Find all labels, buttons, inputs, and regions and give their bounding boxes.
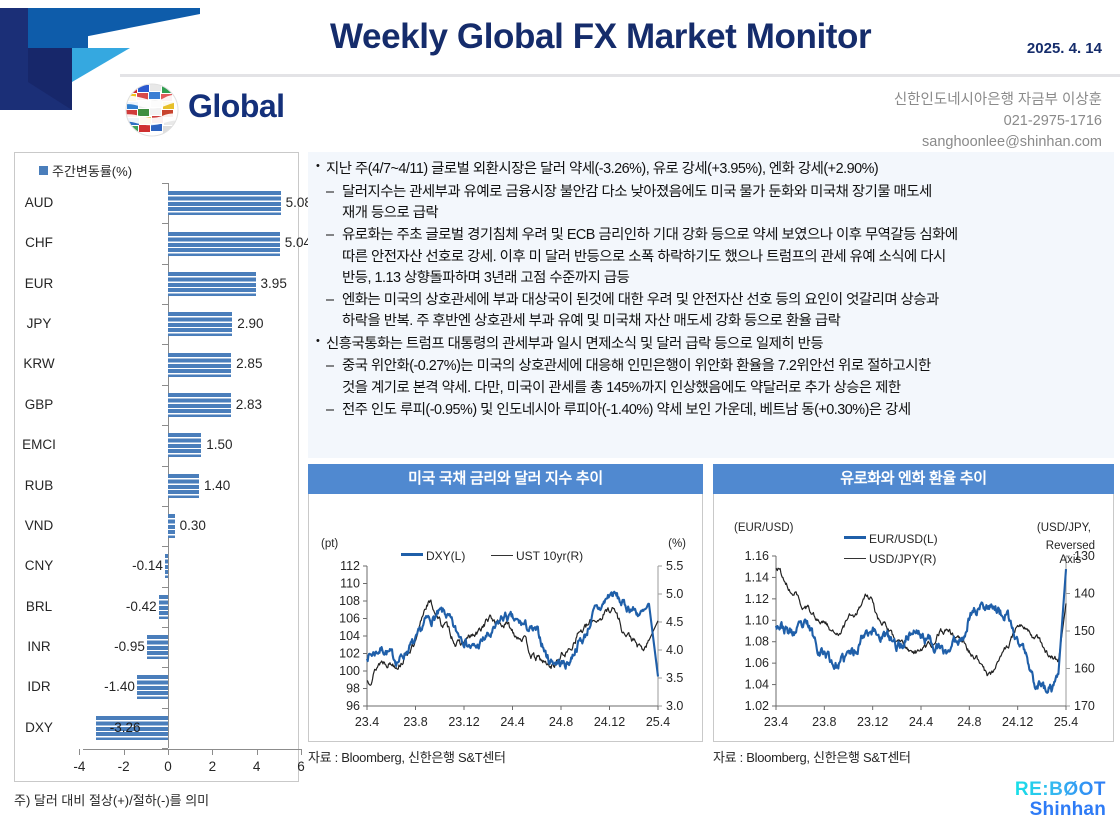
commentary-bullet: 신흥국통화는 트럼프 대통령의 관세부과 일시 면제소식 및 달러 급락 등으로… xyxy=(314,334,1106,356)
y-tick xyxy=(162,264,168,265)
svg-text:24.4: 24.4 xyxy=(909,715,933,729)
svg-text:1.16: 1.16 xyxy=(745,549,769,563)
commentary-line: 유로화는 주초 글로벌 경기침체 우려 및 ECB 금리인하 기대 강화 등으로… xyxy=(340,225,1106,246)
bar-segment xyxy=(137,675,168,699)
legend-dxy: DXY(L) xyxy=(401,549,465,563)
svg-text:4.0: 4.0 xyxy=(666,643,683,657)
legend-line-ust xyxy=(491,555,513,556)
y-tick xyxy=(162,708,168,709)
chart-source: 자료 : Bloomberg, 신한은행 S&T센터 xyxy=(308,747,703,766)
svg-text:140: 140 xyxy=(1074,587,1095,601)
y-tick xyxy=(162,627,168,628)
svg-text:25.4: 25.4 xyxy=(646,715,670,729)
svg-text:1.12: 1.12 xyxy=(745,592,769,606)
bar-segment xyxy=(168,312,232,336)
commentary-line: 반등, 1.13 상향돌파하며 3년래 고점 수준까지 급등 xyxy=(340,268,1106,289)
commentary-line: 재개 등으로 급락 xyxy=(340,203,1106,224)
bar-row: CNY-0.14 xyxy=(15,546,298,586)
svg-text:98: 98 xyxy=(346,682,360,696)
svg-text:4.5: 4.5 xyxy=(666,615,683,629)
bar-category-label: EUR xyxy=(15,264,63,304)
bar-segment xyxy=(168,272,256,296)
bar-value-label: 3.95 xyxy=(261,264,287,304)
y-tick xyxy=(162,587,168,588)
svg-text:5.5: 5.5 xyxy=(666,559,683,573)
svg-text:102: 102 xyxy=(339,647,360,661)
contact-block: 신한인도네시아은행 자금부 이상훈 021-2975-1716 sanghoon… xyxy=(894,90,1102,153)
legend-label-dxy: DXY(L) xyxy=(426,549,465,563)
svg-text:100: 100 xyxy=(339,664,360,678)
legend-label-eurusd: EUR/USD(L) xyxy=(869,532,938,546)
bar-category-label: KRW xyxy=(15,344,63,384)
commentary-line: 엔화는 미국의 상호관세에 부과 대상국이 된것에 대한 우려 및 안전자산 선… xyxy=(340,290,1106,311)
left-axis-unit: (pt) xyxy=(321,538,338,550)
bar-row: CHF5.04 xyxy=(15,223,298,263)
svg-text:24.4: 24.4 xyxy=(500,715,524,729)
bar-segment xyxy=(147,635,168,659)
commentary-panel: 지난 주(4/7~4/11) 글로벌 외환시장은 달러 약세(-3.26%), … xyxy=(308,152,1114,458)
header-divider xyxy=(120,74,1120,77)
bar-segment xyxy=(159,595,168,619)
shinhan-wordmark: Shinhan xyxy=(1015,800,1106,820)
svg-text:150: 150 xyxy=(1074,624,1095,638)
legend-label-ust: UST 10yr(R) xyxy=(516,549,583,563)
bar-category-label: RUB xyxy=(15,466,63,506)
svg-text:24.12: 24.12 xyxy=(1002,715,1033,729)
chart-plot-frame: (pt) (%) DXY(L) UST 10yr(R) 112110108106… xyxy=(308,494,703,742)
bar-value-label: -0.14 xyxy=(123,546,163,586)
bar-row: GBP2.83 xyxy=(15,385,298,425)
bar-category-label: BRL xyxy=(15,587,63,627)
svg-text:170: 170 xyxy=(1074,699,1095,713)
chart-eur-jpy: 유로화와 엔화 환율 추이 (EUR/USD) (USD/JPY, Revers… xyxy=(713,464,1114,760)
legend-line-usdjpy xyxy=(844,558,866,559)
bar-segment xyxy=(168,474,199,498)
svg-text:23.4: 23.4 xyxy=(764,715,788,729)
bar-category-label: CHF xyxy=(15,223,63,263)
chart-ust-dxy: 미국 국채 금리와 달러 지수 추이 (pt) (%) DXY(L) UST 1… xyxy=(308,464,703,760)
commentary-line: 것을 계기로 본격 약세. 다만, 미국이 관세를 총 145%까지 인상했음에… xyxy=(340,378,1106,399)
bar-value-label: 2.83 xyxy=(236,385,262,425)
svg-text:1.08: 1.08 xyxy=(745,635,769,649)
bar-row: BRL-0.42 xyxy=(15,587,298,627)
commentary-subbullet: 엔화는 미국의 상호관세에 부과 대상국이 된것에 대한 우려 및 안전자산 선… xyxy=(314,290,1106,333)
svg-text:5.0: 5.0 xyxy=(666,587,683,601)
bar-value-label: 0.30 xyxy=(180,506,206,546)
svg-text:1.04: 1.04 xyxy=(745,678,769,692)
commentary-line: 중국 위안화(-0.27%)는 미국의 상호관세에 대응해 인민은행이 위안화 … xyxy=(340,356,1106,377)
svg-text:23.8: 23.8 xyxy=(403,715,427,729)
legend-label-usdjpy: USD/JPY(R) xyxy=(869,552,936,566)
bar-segment xyxy=(165,554,168,578)
bar-x-axis: -4-20246 xyxy=(15,749,298,783)
bar-row: JPY2.90 xyxy=(15,304,298,344)
commentary-subbullet: 유로화는 주초 글로벌 경기침체 우려 및 ECB 금리인하 기대 강화 등으로… xyxy=(314,225,1106,289)
bar-value-label: 2.85 xyxy=(236,344,262,384)
contact-author: 신한인도네시아은행 자금부 이상훈 xyxy=(894,90,1102,111)
x-tick xyxy=(301,749,302,755)
bar-segment xyxy=(168,353,231,377)
x-tick-label: 0 xyxy=(164,759,172,774)
svg-text:23.12: 23.12 xyxy=(448,715,479,729)
reboot-wordmark: RE:BØOT xyxy=(1015,780,1106,800)
bar-row: IDR-1.40 xyxy=(15,667,298,707)
page-header: Weekly Global FX Market Monitor 2025. 4.… xyxy=(0,0,1120,150)
bar-segment xyxy=(168,433,201,457)
svg-text:96: 96 xyxy=(346,699,360,713)
svg-text:24.12: 24.12 xyxy=(594,715,625,729)
bar-category-label: GBP xyxy=(15,385,63,425)
bar-value-label: 1.40 xyxy=(204,466,230,506)
y-tick xyxy=(162,223,168,224)
svg-text:106: 106 xyxy=(339,612,360,626)
x-tick xyxy=(257,749,258,755)
svg-text:104: 104 xyxy=(339,629,360,643)
y-tick xyxy=(162,425,168,426)
commentary-subbullet: 중국 위안화(-0.27%)는 미국의 상호관세에 대응해 인민은행이 위안화 … xyxy=(314,356,1106,399)
svg-text:160: 160 xyxy=(1074,662,1095,676)
globe-flags-icon xyxy=(124,82,180,138)
svg-text:23.8: 23.8 xyxy=(812,715,836,729)
legend-swatch xyxy=(39,166,48,175)
bar-value-label: 2.90 xyxy=(237,304,263,344)
svg-text:23.12: 23.12 xyxy=(857,715,888,729)
bar-row: DXY-3.26 xyxy=(15,708,298,748)
bar-category-label: AUD xyxy=(15,183,63,223)
svg-text:108: 108 xyxy=(339,594,360,608)
bar-category-label: JPY xyxy=(15,304,63,344)
bar-category-label: VND xyxy=(15,506,63,546)
commentary-line: 따른 안전자산 선호로 강세. 이후 미 달러 반등으로 소폭 하락하기도 했으… xyxy=(340,247,1106,268)
legend-line-eurusd xyxy=(844,536,866,539)
y-tick xyxy=(162,183,168,184)
svg-text:3.0: 3.0 xyxy=(666,699,683,713)
bar-chart-note: 주) 달러 대비 절상(+)/절하(-)를 의미 xyxy=(14,790,209,809)
y-tick xyxy=(162,385,168,386)
x-tick-label: 2 xyxy=(209,759,217,774)
bar-value-label: -3.26 xyxy=(110,708,141,748)
page-title: Weekly Global FX Market Monitor xyxy=(330,18,970,57)
commentary-bullet: 지난 주(4/7~4/11) 글로벌 외환시장은 달러 약세(-3.26%), … xyxy=(314,159,1106,181)
report-date: 2025. 4. 14 xyxy=(1027,40,1102,57)
contact-phone: 021-2975-1716 xyxy=(894,111,1102,132)
x-tick-label: 6 xyxy=(297,759,305,774)
chart-plot-frame: (EUR/USD) (USD/JPY, ReversedAxis EUR/USD… xyxy=(713,494,1114,742)
bar-row: RUB1.40 xyxy=(15,466,298,506)
chart-legend: 주간변동률(%) xyxy=(39,161,132,180)
chart-title: 유로화와 엔화 환율 추이 xyxy=(713,464,1114,494)
y-tick xyxy=(162,344,168,345)
bar-value-label: -0.95 xyxy=(105,627,145,667)
bar-row: VND0.30 xyxy=(15,506,298,546)
x-tick xyxy=(124,749,125,755)
bar-row: EMCI1.50 xyxy=(15,425,298,465)
x-tick-label: -2 xyxy=(118,759,130,774)
y-tick xyxy=(162,667,168,668)
svg-text:3.5: 3.5 xyxy=(666,671,683,685)
bar-category-label: CNY xyxy=(15,546,63,586)
y-tick xyxy=(162,304,168,305)
svg-text:1.02: 1.02 xyxy=(745,699,769,713)
commentary-line: 하락을 반복. 주 후반엔 상호관세 부과 유예 및 미국채 자산 매도세 강화… xyxy=(340,311,1106,332)
legend-label: 주간변동률(%) xyxy=(52,164,132,179)
legend-ust: UST 10yr(R) xyxy=(491,549,583,563)
bar-category-label: INR xyxy=(15,627,63,667)
chart-source: 자료 : Bloomberg, 신한은행 S&T센터 xyxy=(713,747,1114,766)
y-tick xyxy=(162,546,168,547)
svg-text:25.4: 25.4 xyxy=(1054,715,1078,729)
commentary-subbullet: 달러지수는 관세부과 유예로 금융시장 불안감 다소 낮아졌음에도 미국 물가 … xyxy=(314,182,1106,225)
chart-title: 미국 국채 금리와 달러 지수 추이 xyxy=(308,464,703,494)
svg-text:24.8: 24.8 xyxy=(549,715,573,729)
bar-plot-area: AUD5.08CHF5.04EUR3.95JPY2.90KRW2.85GBP2.… xyxy=(15,183,298,748)
bar-category-label: DXY xyxy=(15,708,63,748)
svg-text:1.06: 1.06 xyxy=(745,656,769,670)
right-axis-unit: (USD/JPY, xyxy=(1037,522,1091,534)
bar-row: INR-0.95 xyxy=(15,627,298,667)
x-tick xyxy=(212,749,213,755)
x-tick-label: -4 xyxy=(73,759,85,774)
commentary-line: 달러지수는 관세부과 유예로 금융시장 불안감 다소 낮아졌음에도 미국 물가 … xyxy=(340,182,1106,203)
brand-label: Global xyxy=(188,88,285,125)
x-tick xyxy=(168,749,169,755)
right-axis-unit: (%) xyxy=(668,538,686,550)
bar-category-label: EMCI xyxy=(15,425,63,465)
bar-segment xyxy=(168,232,280,256)
x-tick xyxy=(79,749,80,755)
bar-row: EUR3.95 xyxy=(15,264,298,304)
bar-segment xyxy=(168,191,281,215)
commentary-line: 전주 인도 루피(-0.95%) 및 인도네시아 루피아(-1.40%) 약세 … xyxy=(340,400,1106,421)
bar-value-label: -1.40 xyxy=(95,667,135,707)
reversed-axis-note: ReversedAxis xyxy=(1046,539,1095,568)
legend-line-dxy xyxy=(401,553,423,556)
svg-text:23.4: 23.4 xyxy=(355,715,379,729)
legend-eurusd: EUR/USD(L) xyxy=(844,532,938,546)
x-axis-line xyxy=(83,749,301,750)
y-tick xyxy=(162,466,168,467)
bar-value-label: -0.42 xyxy=(117,587,157,627)
chart-lines-ust-dxy: 11211010810610410210098965.55.04.54.03.5… xyxy=(309,494,702,740)
commentary-subbullet: 전주 인도 루피(-0.95%) 및 인도네시아 루피아(-1.40%) 약세 … xyxy=(314,400,1106,421)
svg-text:1.14: 1.14 xyxy=(745,570,769,584)
bar-segment xyxy=(168,393,231,417)
bar-row: KRW2.85 xyxy=(15,344,298,384)
reboot-shinhan-logo: RE:BØOT Shinhan xyxy=(1015,780,1106,820)
legend-usdjpy: USD/JPY(R) xyxy=(844,552,936,566)
svg-text:110: 110 xyxy=(340,577,360,591)
contact-email: sanghoonlee@shinhan.com xyxy=(894,132,1102,153)
svg-text:1.10: 1.10 xyxy=(745,613,769,627)
bar-category-label: IDR xyxy=(15,667,63,707)
weekly-change-bar-chart: 주간변동률(%) AUD5.08CHF5.04EUR3.95JPY2.90KRW… xyxy=(14,152,299,782)
y-tick xyxy=(162,506,168,507)
svg-text:24.8: 24.8 xyxy=(957,715,981,729)
bar-value-label: 1.50 xyxy=(206,425,232,465)
bar-row: AUD5.08 xyxy=(15,183,298,223)
bar-segment xyxy=(168,514,175,538)
x-tick-label: 4 xyxy=(253,759,261,774)
svg-text:112: 112 xyxy=(340,559,360,573)
left-axis-unit: (EUR/USD) xyxy=(734,522,793,534)
